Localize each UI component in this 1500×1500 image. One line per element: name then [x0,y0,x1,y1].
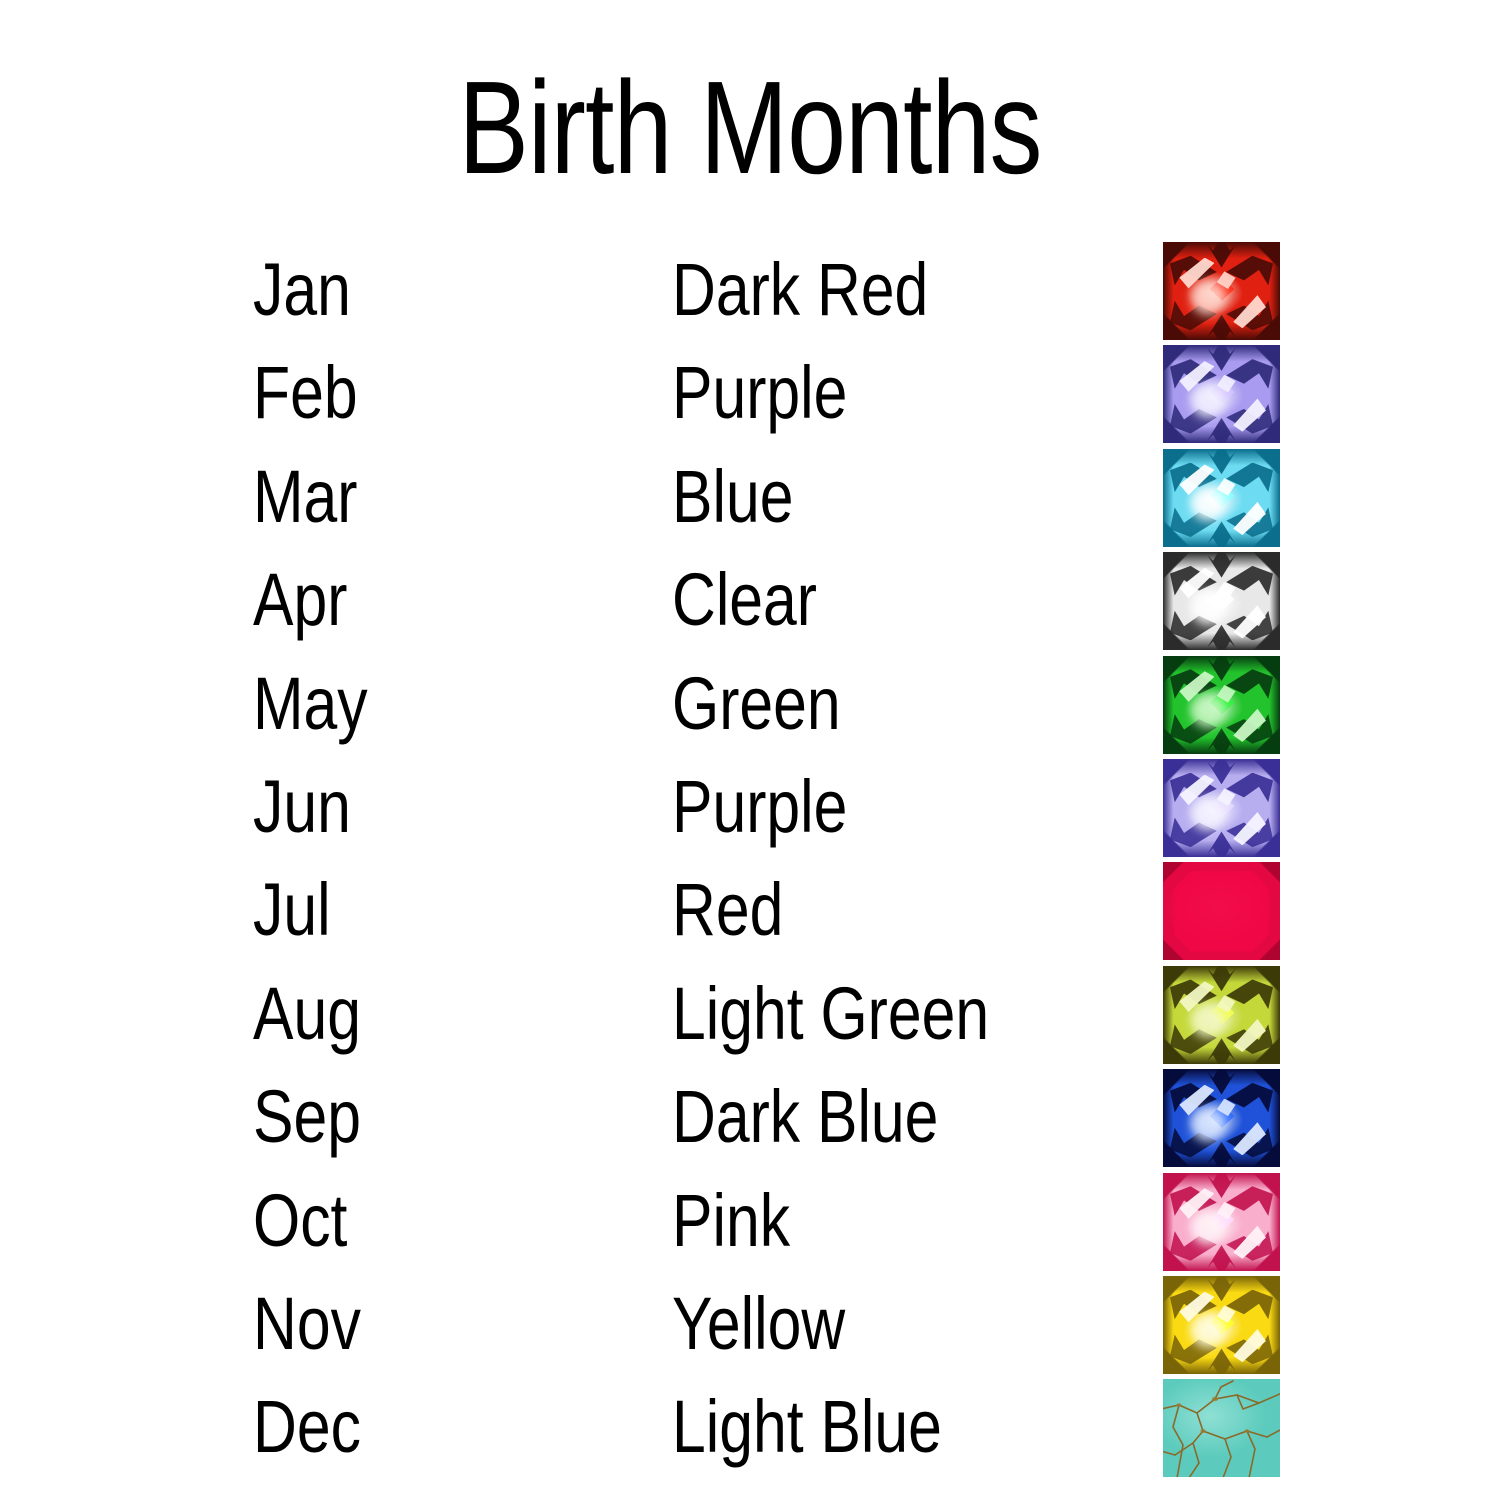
gemstone-cell [1163,552,1280,650]
color-name-label: Pink [672,1169,790,1272]
gem-facets [1163,242,1280,340]
ruby-gem [1163,862,1280,960]
gemstone-cell [1163,1173,1280,1271]
diamond-gem [1163,552,1280,650]
gem-facets [1163,759,1280,857]
birth-month-table: JanDark RedFebPurpleMarBlueAprClearMayGr… [0,238,1500,1479]
color-name-label: Dark Red [672,238,928,341]
color-name-label: Purple [672,755,847,858]
table-row: NovYellow [0,1272,1500,1375]
gemstone-cell [1163,862,1280,960]
color-name-label: Blue [672,445,793,548]
gemstone-cell [1163,242,1280,340]
table-row: JunPurple [0,755,1500,858]
gem-facets [1163,966,1280,1064]
emerald-gem [1163,656,1280,754]
gemstone-cell [1163,345,1280,443]
birth-months-page: Birth Months JanDark RedFebPurpleMarBlue… [0,0,1500,1500]
table-row: JanDark Red [0,238,1500,341]
turquoise-gem [1163,1379,1280,1477]
gemstone-cell [1163,759,1280,857]
month-label: Jul [253,858,331,961]
month-label: Aug [253,962,361,1065]
peridot-gem [1163,966,1280,1064]
month-label: Jan [253,238,351,341]
month-label: Dec [253,1375,361,1478]
gem-facets [1163,552,1280,650]
gemstone-cell [1163,966,1280,1064]
gem-facets [1163,1173,1280,1271]
page-title: Birth Months [150,62,1350,194]
table-row: AugLight Green [0,962,1500,1065]
gem-facets [1163,862,1280,960]
month-label: Jun [253,755,351,858]
color-name-label: Yellow [672,1272,845,1375]
gem-facets [1163,656,1280,754]
color-name-label: Red [672,858,783,961]
tourmaline-gem [1163,1173,1280,1271]
color-name-label: Clear [672,548,817,651]
month-label: Mar [253,445,358,548]
table-row: MarBlue [0,445,1500,548]
gemstone-cell [1163,449,1280,547]
month-label: Nov [253,1272,361,1375]
month-label: Feb [253,341,358,444]
citrine-gem [1163,1276,1280,1374]
gemstone-cell [1163,1069,1280,1167]
color-name-label: Light Blue [672,1375,942,1478]
gemstone-cell [1163,1379,1280,1477]
table-row: JulRed [0,858,1500,961]
amethyst-gem [1163,345,1280,443]
turquoise-matrix-veins [1163,1379,1280,1477]
color-name-label: Purple [672,341,847,444]
gemstone-cell [1163,656,1280,754]
gemstone-cell [1163,1276,1280,1374]
table-row: DecLight Blue [0,1375,1500,1478]
aquamarine-gem [1163,449,1280,547]
sapphire-gem [1163,1069,1280,1167]
color-name-label: Light Green [672,962,989,1065]
garnet-gem [1163,242,1280,340]
month-label: Apr [253,548,347,651]
month-label: May [253,652,368,755]
gem-facets [1163,1069,1280,1167]
gem-facets [1163,1276,1280,1374]
table-row: OctPink [0,1169,1500,1272]
month-label: Sep [253,1065,361,1168]
table-row: MayGreen [0,652,1500,755]
table-row: SepDark Blue [0,1065,1500,1168]
color-name-label: Green [672,652,841,755]
table-row: AprClear [0,548,1500,651]
gem-facets [1163,449,1280,547]
gem-facets [1163,345,1280,443]
alexandrite-gem [1163,759,1280,857]
month-label: Oct [253,1169,347,1272]
table-row: FebPurple [0,341,1500,444]
color-name-label: Dark Blue [672,1065,938,1168]
